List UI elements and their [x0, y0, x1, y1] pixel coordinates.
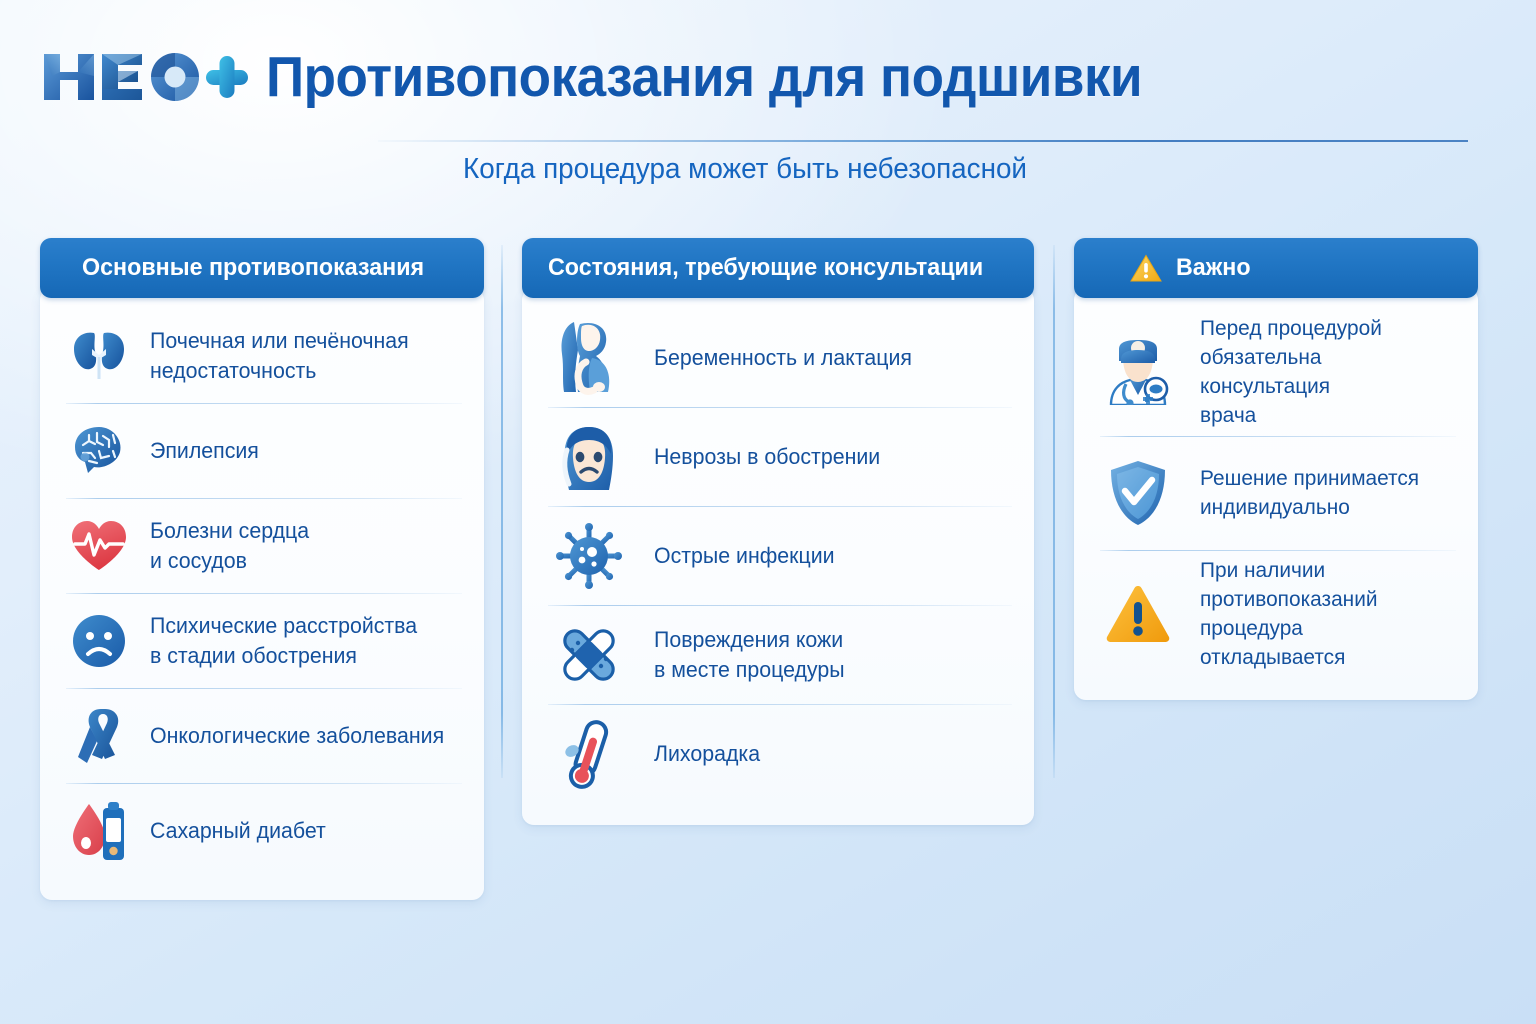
bandage-cross-icon: [554, 618, 624, 692]
page-title: Противопоказания для подшивки: [266, 49, 1142, 106]
list-item-label: Лихорадка: [654, 739, 760, 769]
shield-check-icon: [1104, 459, 1172, 527]
list-item-label: Повреждения кожи в месте процедуры: [654, 625, 845, 684]
blood-glucometer-icon: [66, 798, 132, 864]
thermometer-icon: [554, 717, 624, 791]
list-item-label: Острые инфекции: [654, 541, 835, 571]
list-item-label: Почечная или печёночная недостаточность: [150, 326, 409, 385]
card-important: Важно: [1074, 238, 1478, 700]
page-header: Противопоказания для подшивки Когда проц…: [0, 0, 1536, 210]
sad-face-icon: [66, 608, 132, 674]
list-item[interactable]: Почечная или печёночная недостаточность: [58, 308, 466, 403]
list-item-label: Эпилепсия: [150, 436, 259, 466]
pregnant-woman-icon: [554, 321, 624, 395]
list-item-label: Беременность и лактация: [654, 343, 912, 373]
sad-woman-icon: [554, 420, 624, 494]
warning-triangle-icon: [1104, 580, 1172, 648]
list-item[interactable]: Острые инфекции: [540, 506, 1016, 605]
column-separator-1: [501, 245, 503, 778]
warning-triangle-icon: [1130, 254, 1162, 283]
list-item[interactable]: Неврозы в обострении: [540, 407, 1016, 506]
doctor-icon: [1104, 338, 1172, 406]
column-separator-2: [1053, 245, 1055, 778]
list-item-label: Перед процедурой обязательна консультаци…: [1200, 314, 1452, 430]
page-subtitle: Когда процедура может быть небезопасной: [30, 153, 1460, 186]
list-item[interactable]: Решение принимается индивидуально: [1092, 436, 1460, 550]
list-item[interactable]: Повреждения кожи в месте процедуры: [540, 605, 1016, 704]
card-header-main-contraindications: Основные противопоказания: [40, 238, 484, 298]
list-item[interactable]: Сахарный диабет: [58, 783, 466, 878]
virus-icon: [554, 519, 624, 593]
list-item[interactable]: Беременность и лактация: [540, 308, 1016, 407]
card-header-conditions-requiring-consultation: Состояния, требующие консультации: [522, 238, 1034, 298]
list-item[interactable]: Психические расстройства в стадии обостр…: [58, 593, 466, 688]
list-item[interactable]: Лихорадка: [540, 704, 1016, 803]
card-conditions-requiring-consultation: Состояния, требующие консультации: [522, 238, 1034, 825]
card-header-important: Важно: [1074, 238, 1478, 298]
brain-icon: [66, 418, 132, 484]
list-item-label: Болезни сердца и сосудов: [150, 516, 309, 575]
list-item[interactable]: Онкологические заболевания: [58, 688, 466, 783]
list-item-label: При наличии противопоказаний процедура о…: [1200, 556, 1452, 672]
list-item-label: Онкологические заболевания: [150, 721, 444, 751]
logo-and-title: Противопоказания для подшивки: [38, 46, 1208, 108]
card-title: Основные противопоказания: [82, 254, 424, 282]
heart-pulse-icon: [66, 513, 132, 579]
list-item[interactable]: Эпилепсия: [58, 403, 466, 498]
list-item[interactable]: Болезни сердца и сосудов: [58, 498, 466, 593]
kidney-icon: [66, 323, 132, 389]
card-title: Важно: [1176, 254, 1251, 282]
list-item-label: Неврозы в обострении: [654, 442, 880, 472]
card-body-conditions-requiring-consultation: Беременность и лактация: [522, 288, 1034, 825]
list-item-label: Решение принимается индивидуально: [1200, 464, 1419, 522]
list-item[interactable]: Перед процедурой обязательна консультаци…: [1092, 308, 1460, 436]
card-body-important: Перед процедурой обязательна консультаци…: [1074, 288, 1478, 700]
awareness-ribbon-icon: [66, 703, 132, 769]
neo-plus-logo: [38, 46, 250, 108]
list-item-label: Психические расстройства в стадии обостр…: [150, 611, 417, 670]
list-item-label: Сахарный диабет: [150, 816, 326, 846]
title-divider: [378, 140, 1468, 142]
card-title: Состояния, требующие консультации: [548, 254, 983, 282]
card-body-main-contraindications: Почечная или печёночная недостаточность: [40, 288, 484, 900]
list-item[interactable]: При наличии противопоказаний процедура о…: [1092, 550, 1460, 678]
card-main-contraindications: Основные противопоказания Почечная или п…: [40, 238, 484, 900]
